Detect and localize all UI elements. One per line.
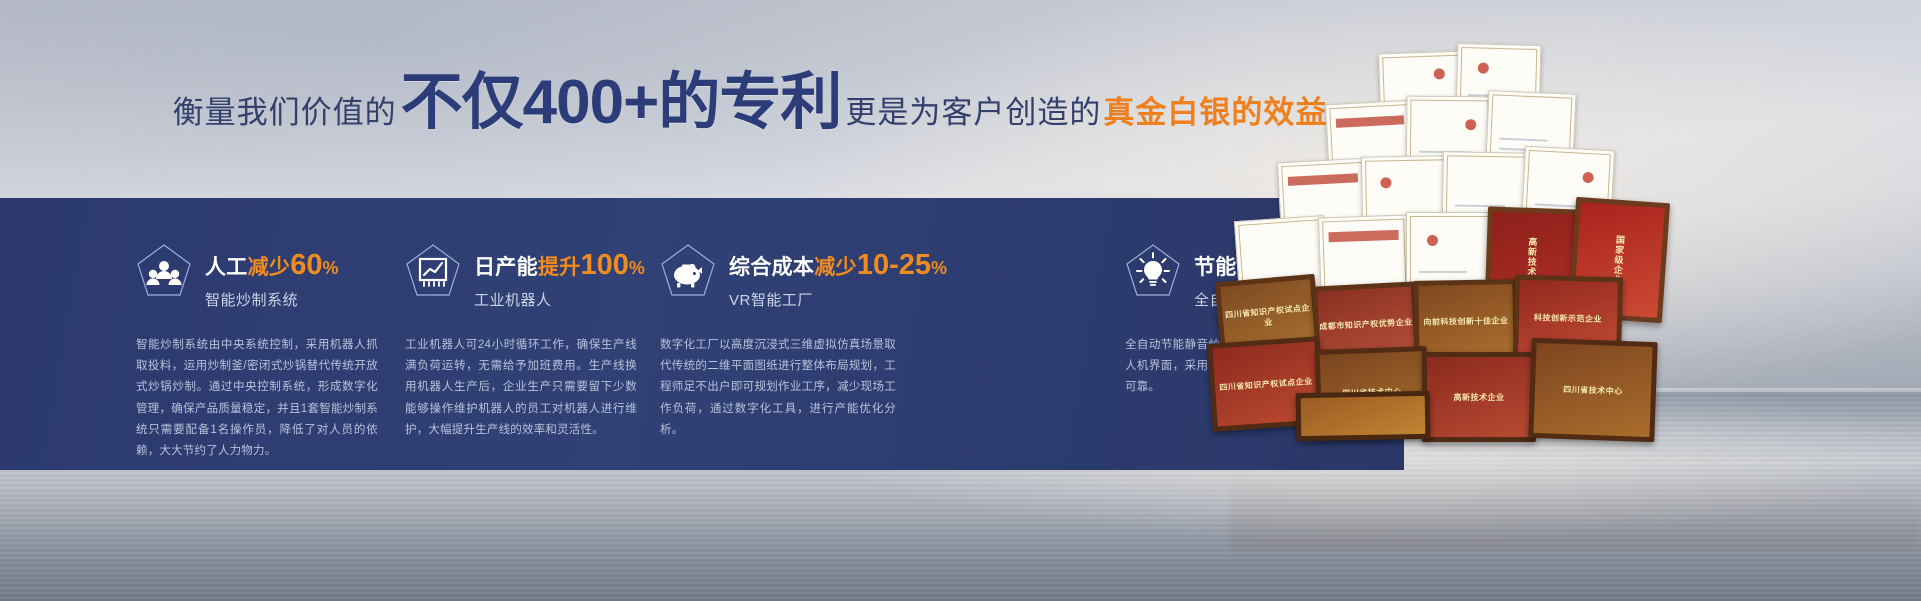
piggy-bank-icon: [660, 242, 716, 302]
headline-emphasis: 不仅400+的专利: [401, 72, 842, 134]
feature-subtitle: 智能炒制系统: [205, 289, 339, 310]
feature-title-lead: 综合成本: [729, 256, 814, 279]
feature-item: 综合成本减少10-25% VR智能工厂 数字化工厂以高度沉浸式三维虚拟仿真场景取…: [660, 246, 950, 470]
feature-subtitle: VR智能工厂: [729, 289, 947, 310]
feature-title-lead: 日产能: [474, 256, 538, 279]
certificate-pile: 高新技术企业 国家级企业 四川省知识产权试点企业 成都市知识产权优势企业 向前科…: [1210, 40, 1921, 520]
people-group-icon: [136, 242, 192, 302]
feature-title-word: 减少: [248, 256, 291, 279]
feature-title-word: 提升: [538, 256, 581, 279]
feature-title: 综合成本减少10-25%: [729, 250, 947, 282]
feature-subtitle: 工业机器人: [474, 289, 645, 310]
plaque-label: 高新技术企业: [1422, 352, 1536, 442]
feature-description: 工业机器人可24小时循环工作，确保生产线满负荷运转，无需给予加班费用。生产线换用…: [405, 335, 637, 441]
feature-title-number: 10-25: [857, 249, 931, 281]
headline-lead: 衡量我们价值的: [173, 97, 397, 128]
feature-title: 人工减少60%: [205, 250, 339, 282]
feature-title-number: 60: [290, 249, 322, 281]
feature-title-percent: %: [322, 258, 338, 278]
chart-board-icon: [405, 242, 461, 302]
feature-item: 人工减少60% 智能炒制系统 智能炒制系统由中央系统控制，采用机器人抓取投料，运…: [136, 246, 426, 470]
feature-title: 日产能提升100%: [474, 250, 645, 282]
features-panel: 人工减少60% 智能炒制系统 智能炒制系统由中央系统控制，采用机器人抓取投料，运…: [0, 198, 1404, 470]
feature-title-number: 100: [581, 249, 629, 281]
lightbulb-icon: [1125, 242, 1181, 302]
feature-description: 智能炒制系统由中央系统控制，采用机器人抓取投料，运用炒制釜/密闭式炒锅替代传统开…: [136, 335, 378, 463]
feature-title-percent: %: [629, 258, 645, 278]
feature-title-percent: %: [931, 258, 947, 278]
feature-title-word: 减少: [814, 256, 857, 279]
promo-banner: 衡量我们价值的 不仅400+的专利 更是为客户创造的 真金白银的效益: [0, 0, 1921, 601]
feature-description: 数字化工厂以高度沉浸式三维虚拟仿真场景取代传统的二维平面图纸进行整体布局规划，工…: [660, 335, 896, 441]
plaque-label: 四川省技术中心: [1528, 338, 1657, 442]
feature-item: 日产能提升100% 工业机器人 工业机器人可24小时循环工作，确保生产线满负荷运…: [405, 246, 675, 470]
plaque-label: 向前科技创新十佳企业: [1413, 279, 1518, 363]
pile-reflection: [1230, 470, 1920, 550]
headline-middle: 更是为客户创造的: [845, 97, 1101, 128]
feature-title-lead: 人工: [205, 256, 248, 279]
